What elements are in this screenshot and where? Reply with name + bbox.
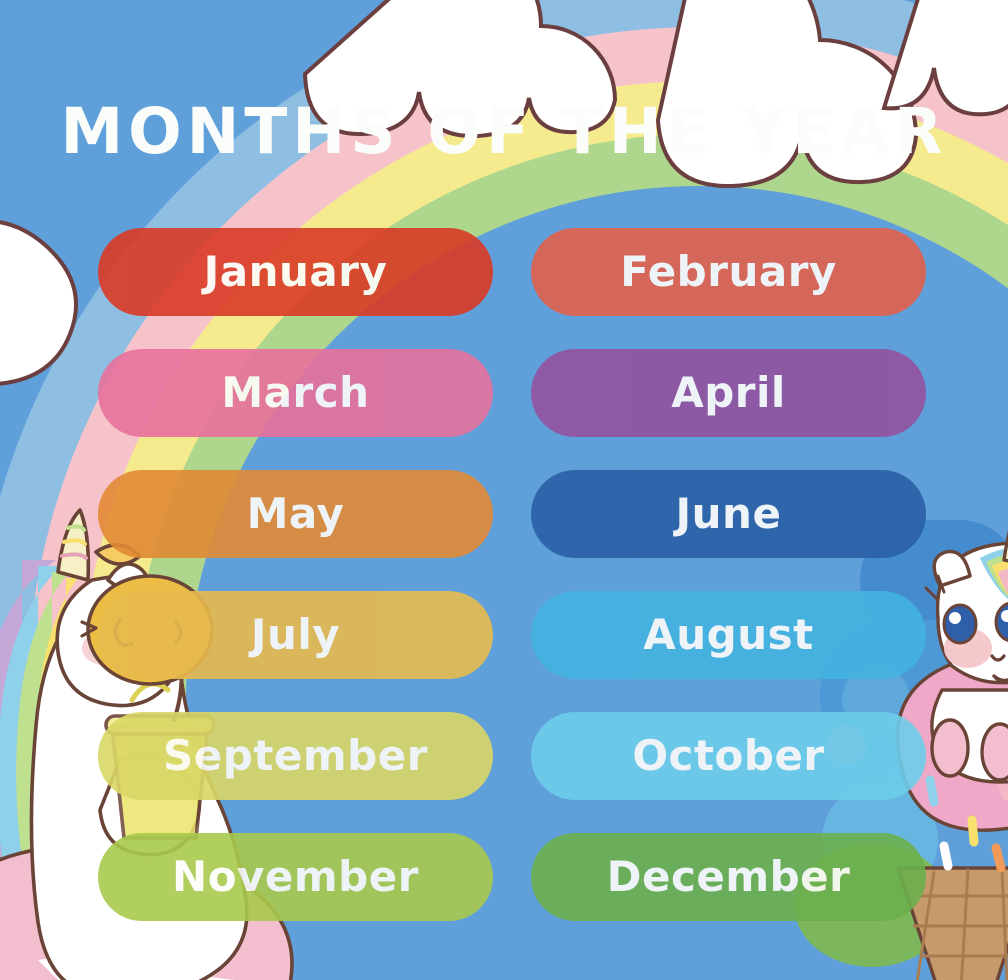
month-pill-march[interactable]: March [98,349,493,437]
month-label-october: October [632,735,824,777]
month-pill-may[interactable]: May [98,470,493,558]
month-pill-october[interactable]: October [531,712,926,800]
month-pill-december[interactable]: December [531,833,926,921]
month-pill-september[interactable]: September [98,712,493,800]
month-pill-november[interactable]: November [98,833,493,921]
month-label-january: January [204,251,388,293]
month-pill-august[interactable]: August [531,591,926,679]
month-label-february: February [620,251,837,293]
month-label-may: May [247,493,345,535]
month-label-november: November [172,856,419,898]
month-pill-july[interactable]: July [98,591,493,679]
unicorn-right-leg-right [982,724,1008,780]
month-label-august: August [643,614,813,656]
month-label-march: March [221,372,369,414]
month-pill-june[interactable]: June [531,470,926,558]
month-label-april: April [671,372,786,414]
month-label-july: July [251,614,340,656]
months-grid: January February March April May June Ju… [98,228,926,923]
month-label-september: September [163,735,428,777]
month-label-december: December [607,856,851,898]
month-pill-january[interactable]: January [98,228,493,316]
page-title: MONTHS OF THE YEAR [0,100,1008,163]
unicorn-right-leg-left [932,720,968,776]
month-label-june: June [676,493,782,535]
months-of-the-year-poster: MONTHS OF THE YEAR January February Marc… [0,0,1008,980]
month-pill-april[interactable]: April [531,349,926,437]
month-pill-february[interactable]: February [531,228,926,316]
